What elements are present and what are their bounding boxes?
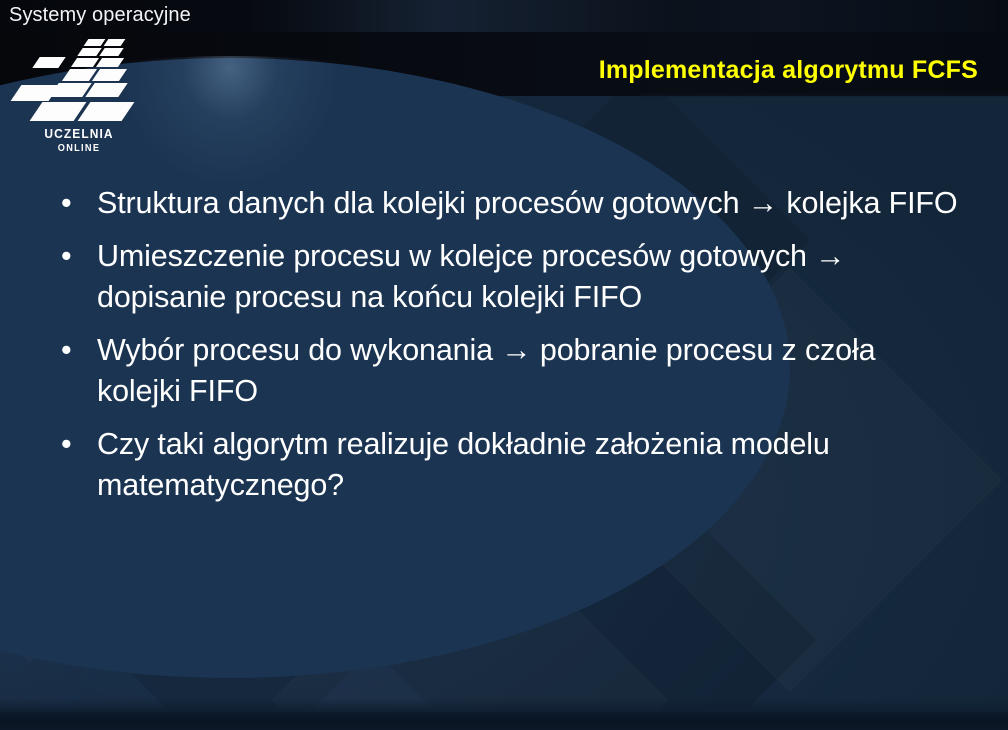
bullet-marker-icon: • <box>61 330 72 371</box>
logo-line-2: ONLINE <box>19 143 139 154</box>
header-right-edge <box>640 90 1008 98</box>
bottom-band <box>0 712 1008 730</box>
list-item-text: Wybór procesu do wykonania → pobranie pr… <box>97 330 958 412</box>
top-strip-highlight <box>250 0 680 32</box>
list-item-text: Umieszczenie procesu w kolejce procesów … <box>97 236 958 318</box>
bullet-list: • Struktura danych dla kolejki procesów … <box>52 183 958 518</box>
bullet-marker-icon: • <box>61 424 72 465</box>
uczelnia-online-logo: UCZELNIA ONLINE <box>14 38 144 163</box>
bullet-marker-icon: • <box>61 236 72 277</box>
bottom-band-soft <box>0 698 1008 712</box>
course-title: Systemy operacyjne <box>9 2 191 28</box>
logo-wordmark: UCZELNIA ONLINE <box>14 126 144 154</box>
bullet-marker-icon: • <box>61 183 72 224</box>
list-item: • Wybór procesu do wykonania → pobranie … <box>52 330 958 412</box>
slide: Systemy operacyjne Implementacja algoryt… <box>0 0 1008 730</box>
list-item: • Czy taki algorytm realizuje dokładnie … <box>52 424 958 506</box>
list-item-text: Struktura danych dla kolejki procesów go… <box>97 183 958 224</box>
logo-line-1: UCZELNIA <box>19 126 139 141</box>
slide-title: Implementacja algorytmu FCFS <box>0 56 978 85</box>
list-item: • Umieszczenie procesu w kolejce procesó… <box>52 236 958 318</box>
list-item: • Struktura danych dla kolejki procesów … <box>52 183 958 224</box>
list-item-text: Czy taki algorytm realizuje dokładnie za… <box>97 424 958 506</box>
logo-tiles-icon <box>14 38 144 128</box>
